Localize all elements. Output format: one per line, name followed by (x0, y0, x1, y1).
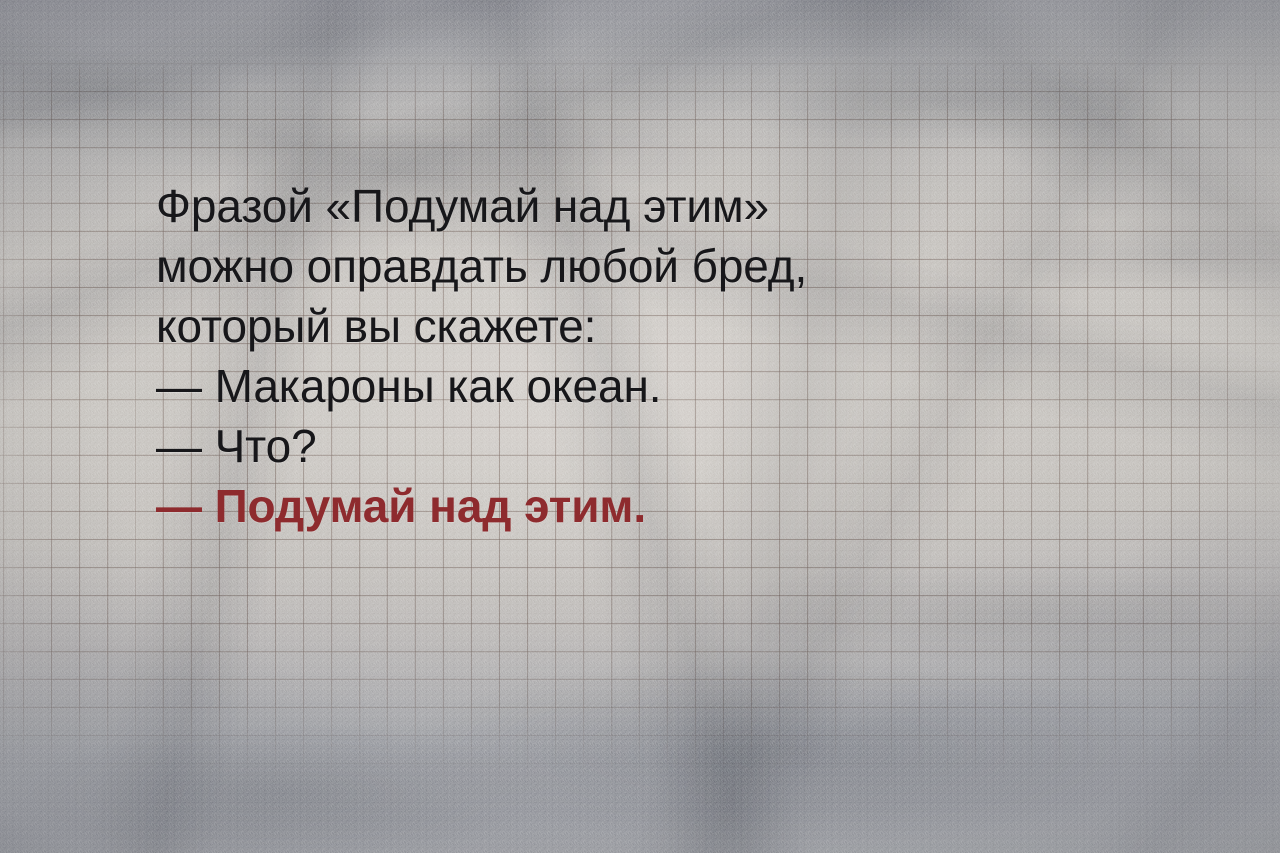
quote-line-1: Фразой «Подумай над этим» (156, 176, 1056, 236)
quote-text-block: Фразой «Подумай над этим» можно оправдат… (156, 176, 1056, 536)
meme-card: Фразой «Подумай над этим» можно оправдат… (0, 0, 1280, 853)
quote-line-5: — Что? (156, 416, 1056, 476)
quote-line-6-punchline: — Подумай над этим. (156, 476, 1056, 536)
quote-line-2: можно оправдать любой бред, (156, 236, 1056, 296)
quote-line-3: который вы скажете: (156, 296, 1056, 356)
quote-line-4: — Макароны как океан. (156, 356, 1056, 416)
